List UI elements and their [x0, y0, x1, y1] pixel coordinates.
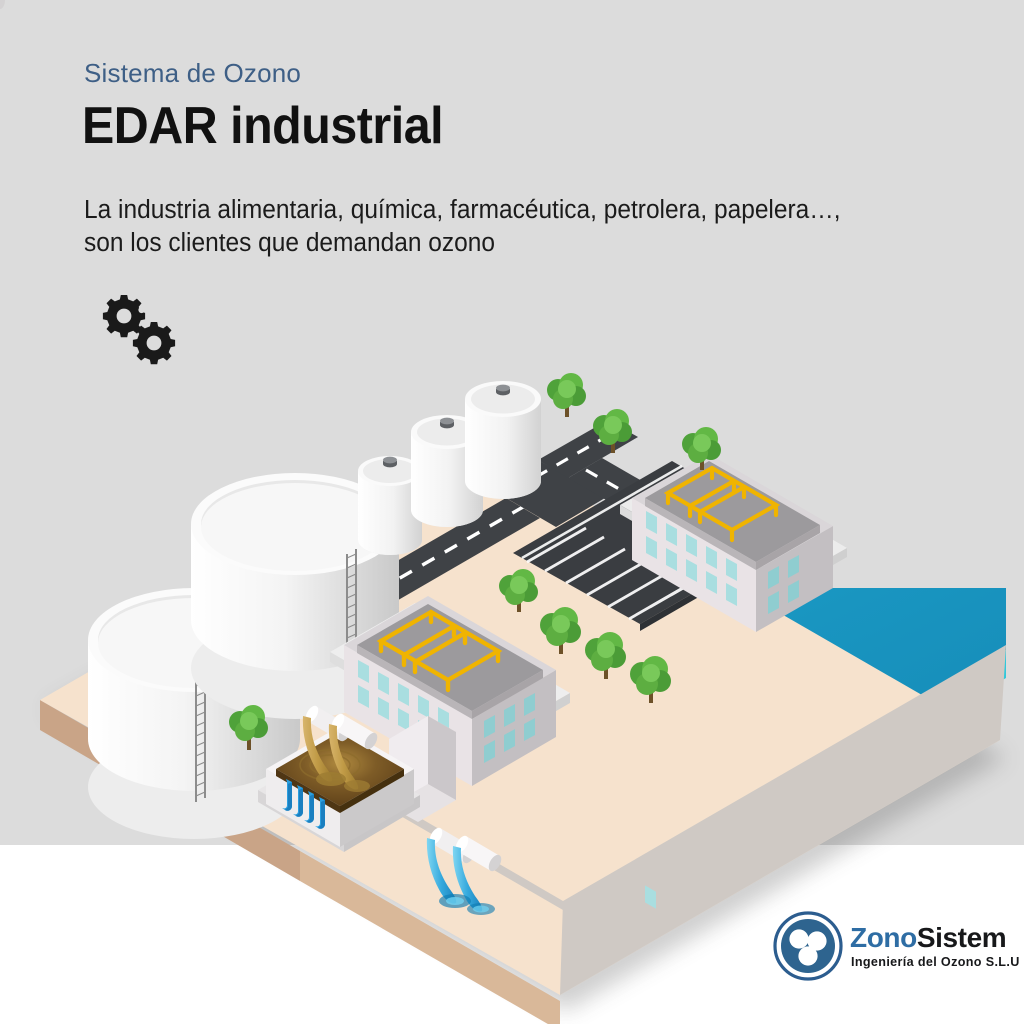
tree — [547, 373, 586, 417]
logo-word-primary: Zono — [850, 922, 917, 953]
brand-logo[interactable]: ZonoSistem Ingeniería del Ozono S.L.U — [772, 908, 1022, 990]
logo-tagline: Ingeniería del Ozono S.L.U — [851, 955, 1020, 969]
silo-large — [465, 381, 541, 499]
logo-word-secondary: Sistem — [917, 922, 1006, 953]
ozone-molecule-icon — [772, 910, 844, 982]
logo-wordmark: ZonoSistem — [850, 922, 1006, 954]
isometric-illustration — [0, 0, 1024, 1024]
infographic-canvas: Sistema de Ozono EDAR industrial La indu… — [0, 0, 1024, 1024]
